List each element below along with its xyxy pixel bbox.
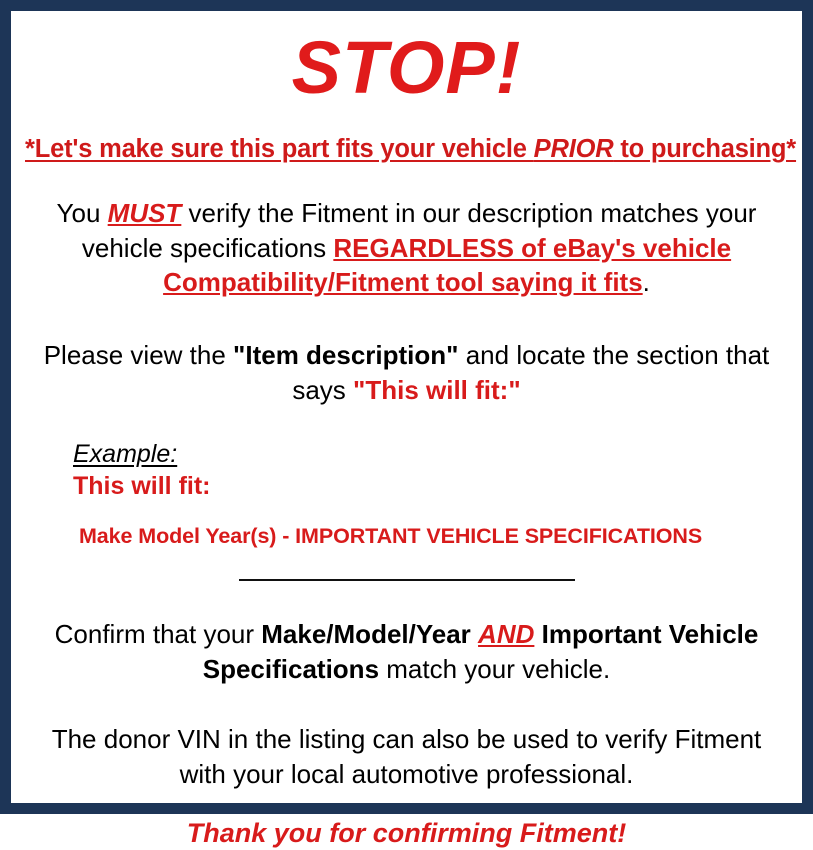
make-model-year-emphasis: Make/Model/Year	[261, 619, 471, 649]
example-block: Example: This will fit: Make Model Year(…	[25, 441, 788, 549]
item-description-emphasis: "Item description"	[233, 340, 458, 370]
view-seg1: Please view the	[44, 340, 233, 370]
this-will-fit-emphasis: "This will fit:"	[353, 375, 521, 405]
verify-seg1: You	[57, 198, 108, 228]
and-emphasis: AND	[478, 619, 534, 649]
divider-wrap	[25, 571, 788, 589]
fitment-notice-card: STOP! *Let's make sure this part fits yo…	[0, 0, 813, 814]
verify-seg3: .	[643, 267, 650, 297]
example-label-row: Example:	[73, 441, 788, 469]
closing-thanks: Thank you for confirming Fitment!	[25, 817, 788, 849]
tagline-before: *Let's make sure this part fits your veh…	[25, 135, 534, 163]
vin-paragraph: The donor VIN in the listing can also be…	[43, 722, 770, 791]
view-paragraph: Please view the "Item description" and l…	[43, 338, 770, 407]
confirm-seg2: match your vehicle.	[379, 654, 610, 684]
example-label: Example:	[73, 441, 177, 469]
tagline-after: to purchasing*	[613, 135, 796, 163]
horizontal-divider	[239, 579, 575, 581]
notice-content: STOP! *Let's make sure this part fits yo…	[25, 31, 788, 819]
verify-paragraph: You MUST verify the Fitment in our descr…	[43, 196, 770, 300]
confirm-paragraph: Confirm that your Make/Model/Year AND Im…	[43, 617, 770, 686]
must-emphasis: MUST	[108, 198, 182, 228]
tagline-emphasis: PRIOR	[534, 135, 614, 163]
confirm-seg1: Confirm that your	[55, 619, 262, 649]
example-fit-heading: This will fit:	[73, 471, 788, 502]
example-spec-line: Make Model Year(s) - IMPORTANT VEHICLE S…	[73, 524, 788, 549]
page-title: STOP!	[25, 31, 788, 105]
tagline: *Let's make sure this part fits your veh…	[25, 135, 788, 164]
